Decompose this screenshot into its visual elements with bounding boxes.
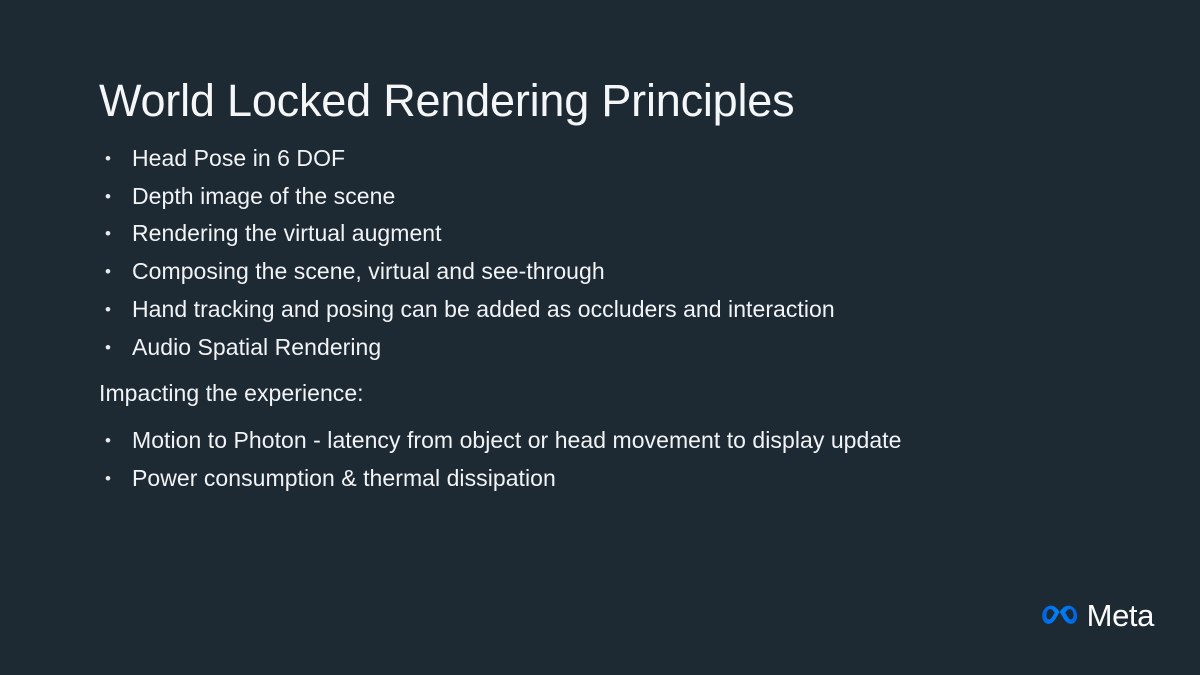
list-item: • Motion to Photon - latency from object… (99, 422, 1119, 460)
list-item-label: Motion to Photon - latency from object o… (132, 427, 901, 453)
brand-logo: Meta (1040, 600, 1154, 631)
slide-canvas: World Locked Rendering Principles • Head… (0, 0, 1200, 675)
bullet-dot-icon: • (103, 460, 113, 498)
brand-wordmark: Meta (1087, 600, 1154, 631)
primary-bullet-list: • Head Pose in 6 DOF • Depth image of th… (99, 140, 1119, 366)
list-item-label: Power consumption & thermal dissipation (132, 465, 556, 491)
list-item-label: Rendering the virtual augment (132, 220, 442, 246)
bullet-dot-icon: • (103, 329, 113, 367)
page-title: World Locked Rendering Principles (99, 76, 794, 126)
list-item: • Head Pose in 6 DOF (99, 140, 1119, 178)
bullet-dot-icon: • (103, 422, 113, 460)
list-item-label: Depth image of the scene (132, 183, 395, 209)
bullet-dot-icon: • (103, 178, 113, 216)
meta-infinity-icon (1040, 602, 1080, 629)
list-item: • Power consumption & thermal dissipatio… (99, 460, 1119, 498)
bullet-dot-icon: • (103, 215, 113, 253)
bullet-dot-icon: • (103, 140, 113, 178)
list-item: • Audio Spatial Rendering (99, 329, 1119, 367)
bullet-dot-icon: • (103, 253, 113, 291)
list-item: • Hand tracking and posing can be added … (99, 291, 1119, 329)
list-item: • Composing the scene, virtual and see-t… (99, 253, 1119, 291)
list-item: • Rendering the virtual augment (99, 215, 1119, 253)
section-lead-text: Impacting the experience: (99, 375, 1119, 413)
slide-body: • Head Pose in 6 DOF • Depth image of th… (99, 140, 1119, 497)
list-item-label: Head Pose in 6 DOF (132, 145, 345, 171)
secondary-bullet-list: • Motion to Photon - latency from object… (99, 422, 1119, 497)
list-item-label: Composing the scene, virtual and see-thr… (132, 258, 605, 284)
list-item-label: Hand tracking and posing can be added as… (132, 296, 835, 322)
bullet-dot-icon: • (103, 291, 113, 329)
list-item: • Depth image of the scene (99, 178, 1119, 216)
list-item-label: Audio Spatial Rendering (132, 334, 381, 360)
